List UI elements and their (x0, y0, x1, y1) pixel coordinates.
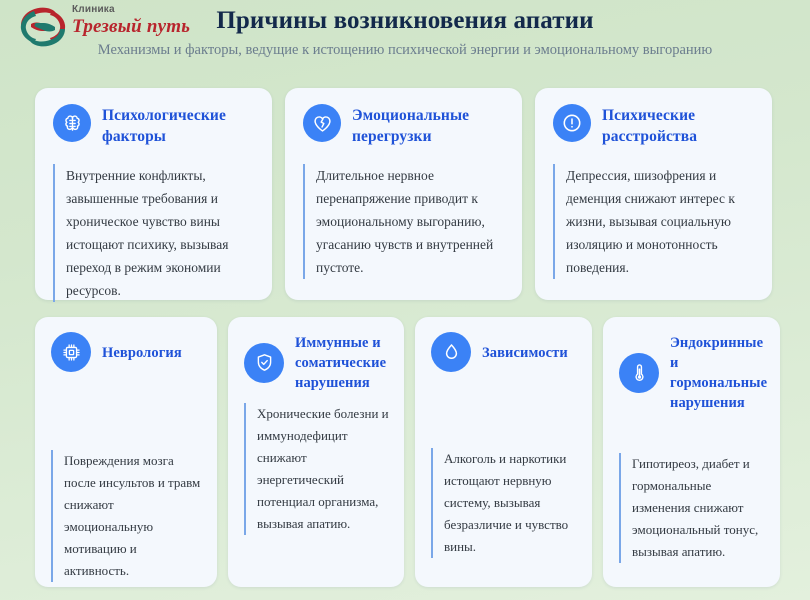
card-endocrine-hormonal-disorders[interactable]: Эндокринные и гормональные нарушения Гип… (603, 317, 780, 587)
logo-kicker: Клиника (72, 4, 222, 16)
card-title: Зависимости (482, 342, 568, 363)
card-title: Психологические факторы (102, 104, 256, 147)
card-header: Неврология (51, 332, 203, 372)
card-title: Иммунные и соматические нарушения (295, 332, 390, 393)
card-body: Гипотиреоз, диабет и гормональные измене… (619, 453, 766, 563)
logo-name: Трезвый путь (72, 16, 222, 38)
droplet-icon (431, 332, 471, 372)
card-title: Психические расстройства (602, 104, 756, 147)
card-immune-somatic-disorders[interactable]: Иммунные и соматические нарушения Хронич… (228, 317, 404, 587)
card-title: Эндокринные и гормональные нарушения (670, 332, 767, 413)
card-neurology[interactable]: Неврология Повреждения мозга после инсул… (35, 317, 217, 587)
brain-icon (53, 104, 91, 142)
card-addictions[interactable]: Зависимости Алкоголь и наркотики истощаю… (415, 317, 592, 587)
cards-row-two: Неврология Повреждения мозга после инсул… (0, 300, 810, 587)
clinic-hands-logo-icon (12, 5, 74, 49)
card-body: Депрессия, шизофрения и деменция снижают… (553, 164, 756, 279)
card-header: Эмоциональные перегрузки (303, 104, 506, 147)
card-body: Длительное нервное перенапряжение привод… (303, 164, 506, 279)
thermometer-icon (619, 353, 659, 393)
microchip-icon (51, 332, 91, 372)
card-body: Алкоголь и наркотики истощают нервную си… (431, 448, 578, 558)
card-body: Хронические болезни и иммунодефицит сниж… (244, 403, 390, 535)
card-header: Эндокринные и гормональные нарушения (619, 332, 766, 413)
clinic-logo-text: Клиника Трезвый путь (72, 4, 222, 38)
clinic-logo[interactable]: Клиника Трезвый путь (12, 2, 212, 54)
card-body: Внутренние конфликты, завышенные требова… (53, 164, 256, 302)
card-header: Зависимости (431, 332, 578, 372)
card-header: Иммунные и соматические нарушения (244, 332, 390, 393)
card-psychological-factors[interactable]: Психологические факторы Внутренние конфл… (35, 88, 272, 300)
cards-row-one: Психологические факторы Внутренние конфл… (0, 72, 810, 300)
card-title: Эмоциональные перегрузки (352, 104, 506, 147)
card-title: Неврология (102, 342, 182, 363)
card-emotional-overload[interactable]: Эмоциональные перегрузки Длительное нерв… (285, 88, 522, 300)
exclamation-circle-icon (553, 104, 591, 142)
card-body: Повреждения мозга после инсультов и трав… (51, 450, 203, 582)
broken-heart-icon (303, 104, 341, 142)
card-mental-disorders[interactable]: Психические расстройства Депрессия, шизо… (535, 88, 772, 300)
card-header: Психические расстройства (553, 104, 756, 147)
page-header: Клиника Трезвый путь Причины возникновен… (0, 0, 810, 72)
card-header: Психологические факторы (53, 104, 256, 147)
shield-check-icon (244, 343, 284, 383)
